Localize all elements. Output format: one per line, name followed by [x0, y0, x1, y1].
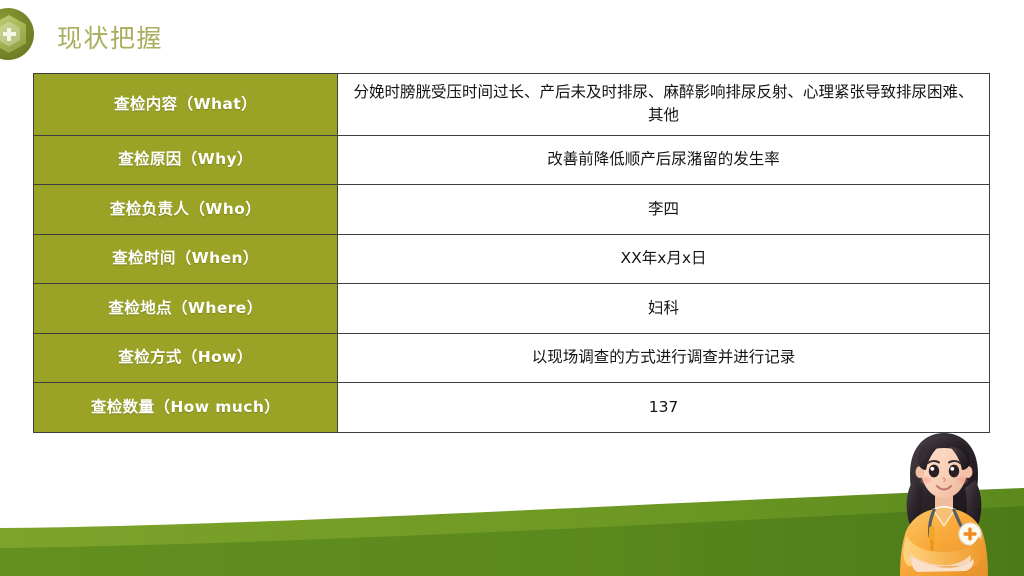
table-row-label: 查检原因（Why）	[34, 135, 338, 185]
check-table: 查检内容（What） 分娩时膀胱受压时间过长、产后未及时排尿、麻醉影响排尿反射、…	[33, 73, 990, 433]
table-row-label: 查检数量（How much）	[34, 383, 338, 433]
table-row: 查检内容（What） 分娩时膀胱受压时间过长、产后未及时排尿、麻醉影响排尿反射、…	[34, 74, 990, 136]
table-row: 查检原因（Why） 改善前降低顺产后尿潴留的发生率	[34, 135, 990, 185]
check-table-container: 查检内容（What） 分娩时膀胱受压时间过长、产后未及时排尿、麻醉影响排尿反射、…	[33, 73, 990, 433]
cross-horizontal-bar	[3, 32, 16, 36]
nurse-character-illustration	[880, 430, 1008, 576]
table-row-value: 李四	[338, 185, 990, 235]
slide-header: 现状把握	[0, 0, 1024, 62]
table-row-label: 查检地点（Where）	[34, 284, 338, 334]
table-row-label: 查检时间（When）	[34, 234, 338, 284]
hexagon-inner-shape	[0, 22, 20, 47]
table-row: 查检负责人（Who） 李四	[34, 185, 990, 235]
table-row: 查检时间（When） XX年x月x日	[34, 234, 990, 284]
table-row-label: 查检内容（What）	[34, 74, 338, 136]
table-row: 查检地点（Where） 妇科	[34, 284, 990, 334]
table-row-value: 137	[338, 383, 990, 433]
table-row: 查检数量（How much） 137	[34, 383, 990, 433]
slide-canvas: 现状把握 查检内容（What） 分娩时膀胱受压时间过长、产后未及时排尿、麻醉影响…	[0, 0, 1024, 576]
table-row-value: XX年x月x日	[338, 234, 990, 284]
table-row-value: 分娩时膀胱受压时间过长、产后未及时排尿、麻醉影响排尿反射、心理紧张导致排尿困难、…	[338, 74, 990, 136]
page-title: 现状把握	[57, 19, 163, 55]
table-row: 查检方式（How） 以现场调查的方式进行调查并进行记录	[34, 333, 990, 383]
table-row-label: 查检负责人（Who）	[34, 185, 338, 235]
table-row-value: 以现场调查的方式进行调查并进行记录	[338, 333, 990, 383]
table-row-label: 查检方式（How）	[34, 333, 338, 383]
table-row-value: 妇科	[338, 284, 990, 334]
table-row-value: 改善前降低顺产后尿潴留的发生率	[338, 135, 990, 185]
decorative-wave-band	[0, 466, 1024, 576]
